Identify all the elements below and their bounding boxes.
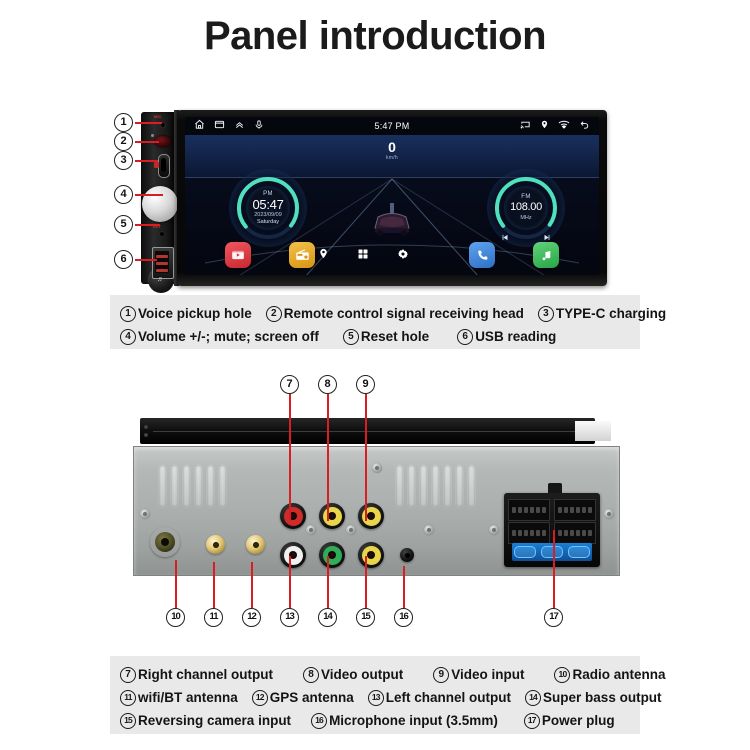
vent-slot [456,465,463,507]
chassis-screw [604,509,614,519]
legend-text-3: TYPE-C charging [556,302,666,325]
iso-pin [512,530,516,536]
legend-text-10: Radio antenna [572,663,665,686]
leader-line-7 [289,394,291,521]
radio-face: FM 108.00 MHz [504,186,548,230]
vent-slot [396,465,403,507]
legend-item-2: 2 Remote control signal receiving head [266,302,524,325]
status-time: 5:47 PM [185,121,599,131]
legend-text-14: Super bass output [543,686,662,709]
mic-label: MIC [154,114,161,119]
rca-hole [328,512,336,520]
vent-slot [408,465,415,507]
legend-text-16: Microphone input (3.5mm) [329,709,498,732]
vent-group-left [159,465,226,507]
phone-app[interactable] [469,242,495,268]
legend-item-17: 17 Power plug [524,709,615,732]
chassis-screw [424,525,434,535]
location-pin-icon[interactable] [318,247,329,263]
app-dock [185,239,599,269]
microphone-input-jack [400,548,414,562]
callout-14: 14 [318,608,337,627]
legend-num-10: 10 [554,667,570,683]
clock-gauge[interactable]: PM 05:47 2023/09/09 Saturday [229,169,307,247]
radio-gauge[interactable]: FM 108.00 MHz [487,169,565,247]
legend-text-7: Right channel output [138,663,273,686]
legend-text-9: Video input [451,663,524,686]
leader-line-6 [135,259,157,261]
settings-gear-icon[interactable] [397,248,409,263]
leader-line-16 [403,566,405,608]
radio-antenna-pin [161,538,169,546]
clock-time: 05:47 [252,197,283,212]
vent-slot [420,465,427,507]
iso-pin-block [508,522,550,544]
rca-reversing-camera-input [358,542,384,568]
clock-face: PM 05:47 2023/09/09 Saturday [246,186,290,230]
iso-pin [530,530,534,536]
fuse-cell [568,546,590,558]
status-bar: 5:47 PM [185,117,599,135]
chassis-screw [372,463,382,473]
music-note-mark: ♬ [157,276,164,283]
bracket-seam [153,431,583,432]
legend-text-15: Reversing camera input [138,709,291,732]
vent-slot [171,465,178,507]
legend-text-6: USB reading [475,325,556,348]
iso-pin [518,530,522,536]
legend-num-14: 14 [525,690,541,706]
legend-num-15: 15 [120,713,136,729]
clock-date: 2023/09/09 [254,212,282,219]
callout-9: 9 [356,375,375,394]
leader-line-5 [135,224,160,226]
vent-slot [219,465,226,507]
video-app[interactable] [225,242,251,268]
legend-num-16: 16 [311,713,327,729]
iso-pin [570,530,574,536]
legend-num-7: 7 [120,667,136,683]
vent-slot [159,465,166,507]
bracket-hole [144,425,148,429]
legend-row: 4 Volume +/-; mute; screen off 5 Reset h… [120,325,630,348]
legend-num-1: 1 [120,306,136,322]
rca-left-channel-output [280,542,306,568]
iso-pin-block [554,522,596,544]
volume-knob-ring[interactable] [142,186,178,222]
callout-12: 12 [242,608,261,627]
callout-5: 5 [114,215,133,234]
leader-line-4 [135,194,163,196]
bracket-tab [575,421,611,441]
callout-7: 7 [280,375,299,394]
leader-line-9 [365,394,367,521]
legend-row: 7 Right channel output 8 Video output 9 … [120,663,630,686]
bracket-hole [144,433,148,437]
rca-right-channel-output [280,503,306,529]
legend-num-12: 12 [252,690,268,706]
iso-pin-block [508,499,550,521]
iso-pin [564,530,568,536]
iso-fuse-strip [512,543,592,561]
callout-8: 8 [318,375,337,394]
rca-video-output [319,503,345,529]
fuse-cell [514,546,536,558]
vent-slot [444,465,451,507]
callout-10: 10 [166,608,185,627]
legend-text-11: wifi/BT antenna [138,686,238,709]
legend-num-8: 8 [303,667,319,683]
callout-13: 13 [280,608,299,627]
car-illustration [369,203,415,237]
iso-pin [536,530,540,536]
legend-item-13: 13 Left channel output [368,686,511,709]
speed-unit: km/h [185,155,599,161]
legend-text-2: Remote control signal receiving head [284,302,524,325]
chassis-screw [306,525,316,535]
callout-3: 3 [114,151,133,170]
legend-text-1: Voice pickup hole [138,302,252,325]
iso-pin [542,530,546,536]
screen-bezel: 5:47 PM [177,110,607,286]
radio-unit: MHz [520,215,531,222]
legend-item-15: 15 Reversing camera input [120,709,291,732]
callout-2: 2 [114,132,133,151]
leader-line-15 [365,556,367,608]
usb-contact-bar [156,262,168,265]
legend-text-13: Left channel output [386,686,511,709]
legend-num-17: 17 [524,713,540,729]
rca-hole [328,551,336,559]
iso-pin [512,507,516,513]
music-app[interactable] [533,242,559,268]
callout-1: 1 [114,113,133,132]
callout-4: 4 [114,185,133,204]
legend-num-5: 5 [343,329,359,345]
chassis-screw [489,525,499,535]
iso-pin [582,530,586,536]
radio-frequency: 108.00 [510,200,542,215]
front-unit: MIC RST ♬ [141,110,607,286]
chassis-screw [346,525,356,535]
legend-item-8: 8 Video output [303,663,403,686]
fuse-cell [541,546,563,558]
iso-pin [588,530,592,536]
rca-super-bass-output [319,542,345,568]
iso-pin [542,507,546,513]
usb-contact-bar [156,269,168,272]
type-c-accent [154,162,159,168]
leader-line-13 [289,556,291,608]
legend-row: 1 Voice pickup hole 2 Remote control sig… [120,302,630,325]
leader-line-14 [327,556,329,608]
iso-pin [558,507,562,513]
ir-indicator-dot [151,134,154,137]
usb-contact-bar [156,255,168,258]
vent-slot [207,465,214,507]
speed-value: 0 [185,139,599,155]
iso-pin [558,530,562,536]
legend-text-17: Power plug [542,709,615,732]
gps-antenna-connector [246,535,265,554]
legend-item-6: 6 USB reading [457,325,556,348]
legend-num-13: 13 [368,690,384,706]
iso-pin [518,507,522,513]
chassis-screw [140,509,150,519]
legend-item-4: 4 Volume +/-; mute; screen off [120,325,319,348]
leader-line-1 [135,122,162,124]
iso-pin [582,507,586,513]
vent-slot [183,465,190,507]
legend-text-12: GPS antenna [270,686,354,709]
legend-row: 15 Reversing camera input 16 Microphone … [120,709,630,732]
callout-16: 16 [394,608,413,627]
leader-line-10 [175,560,177,608]
legend-num-3: 3 [538,306,554,322]
iso-pin [524,507,528,513]
vent-slot [468,465,475,507]
rca-video-input [358,503,384,529]
rear-chassis [133,446,620,576]
legend-text-5: Reset hole [361,325,429,348]
grid-apps-icon[interactable] [357,248,369,263]
legend-num-11: 11 [120,690,136,706]
vent-slot [195,465,202,507]
iso-pin [536,507,540,513]
legend-num-9: 9 [433,667,449,683]
legend-item-5: 5 Reset hole [343,325,429,348]
leader-line-2 [135,141,159,143]
legend-rear-panel: 7 Right channel output 8 Video output 9 … [110,656,640,734]
legend-num-4: 4 [120,329,136,345]
legend-item-11: 11 wifi/BT antenna [120,686,238,709]
leader-line-17 [553,530,555,608]
vent-slot [432,465,439,507]
callout-11: 11 [204,608,223,627]
reset-hole[interactable] [160,232,164,236]
page-title: Panel introduction [0,14,750,59]
legend-text-4: Volume +/-; mute; screen off [138,325,319,348]
iso-pin [576,530,580,536]
radio-app[interactable] [289,242,315,268]
type-c-port-inner [161,158,166,172]
leader-line-3 [135,160,158,162]
legend-item-16: 16 Microphone input (3.5mm) [311,709,498,732]
wifi-bt-antenna-connector [206,535,225,554]
leader-line-8 [327,394,329,521]
leader-line-11 [213,562,215,608]
legend-item-7: 7 Right channel output [120,663,273,686]
product-diagram-page: Panel introduction MIC RST ♬ [0,0,750,750]
iso-pin [530,507,534,513]
legend-num-2: 2 [266,306,282,322]
rca-hole [367,512,375,520]
rca-hole [367,551,375,559]
callout-6: 6 [114,250,133,269]
legend-item-12: 12 GPS antenna [252,686,354,709]
iso-pin [588,507,592,513]
device-screen[interactable]: 5:47 PM [185,117,599,275]
vent-group-right [396,465,475,507]
iso-pin [524,530,528,536]
legend-text-8: Video output [321,663,403,686]
legend-item-1: 1 Voice pickup hole [120,302,252,325]
legend-item-14: 14 Super bass output [525,686,662,709]
legend-front-panel: 1 Voice pickup hole 2 Remote control sig… [110,295,640,349]
iso-pin-block [554,499,596,521]
iso-pin [564,507,568,513]
clock-weekday: Saturday [257,219,279,226]
rear-unit [133,418,620,588]
iso-pin [576,507,580,513]
legend-item-9: 9 Video input [433,663,524,686]
legend-num-6: 6 [457,329,473,345]
callout-17: 17 [544,608,563,627]
legend-item-10: 10 Radio antenna [554,663,665,686]
legend-item-3: 3 TYPE-C charging [538,302,666,325]
callout-15: 15 [356,608,375,627]
legend-row: 11 wifi/BT antenna 12 GPS antenna 13 Lef… [120,686,630,709]
iso-pin [570,507,574,513]
leader-line-12 [251,562,253,608]
